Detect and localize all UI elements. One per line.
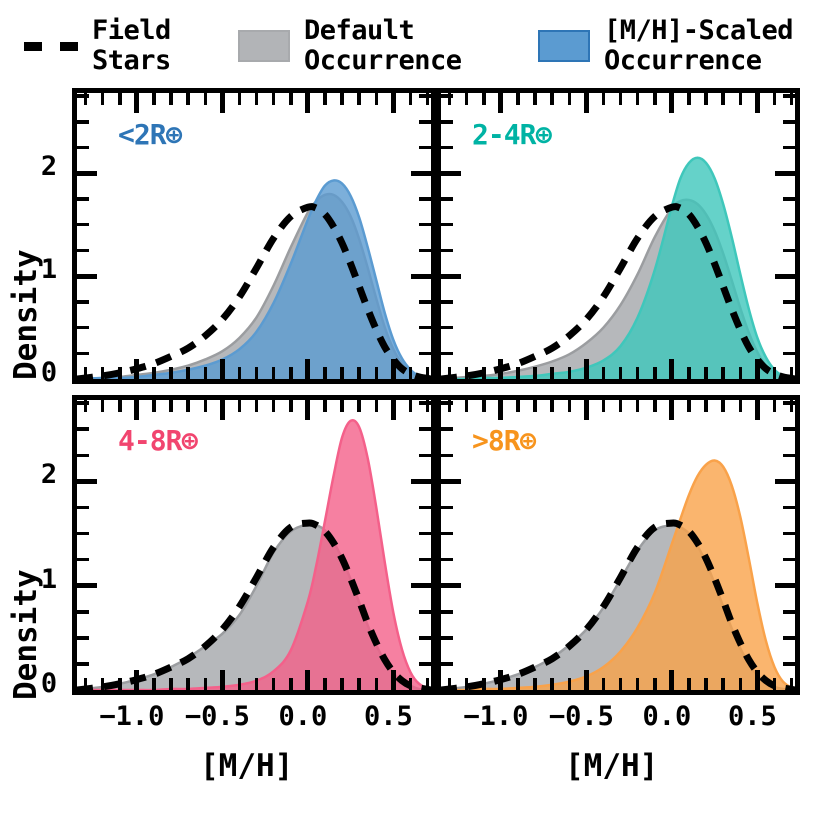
axis-tick [419,454,431,458]
axis-tick [721,400,725,412]
axis-tick [323,93,327,105]
axis-tick [152,400,156,412]
axis-tick [375,678,379,690]
axis-tick [169,400,173,412]
axis-tick [238,93,242,105]
axis-tick [619,367,623,379]
axis-tick [419,146,431,150]
axis-tick [775,274,795,279]
axis-tick [411,479,431,484]
axis-tick [653,678,657,690]
axis-tick [419,610,431,614]
axis-tick [441,506,453,510]
axis-tick [255,678,259,690]
axis-tick [704,400,708,412]
axis-tick [323,367,327,379]
axis-tick [602,367,606,379]
axis-tick [238,367,242,379]
axis-tick [357,678,361,690]
axis-tick [118,93,122,105]
legend-label-scaled-occurrence: [M/H]-Scaled Occurrence [604,16,793,76]
x-axis-label-right: [M/H] [565,748,658,784]
axis-tick [77,636,89,640]
axis-tick [441,636,453,640]
axis-tick [783,120,795,124]
axis-tick [773,93,777,105]
axis-tick [391,93,396,113]
axis-tick [77,120,89,124]
axis-tick [186,400,190,412]
legend-item-scaled-occurrence: [M/H]-Scaled Occurrence [538,16,793,76]
axis-tick [77,662,89,666]
axis-tick [77,610,89,614]
axis-tick [550,678,554,690]
x-axis-label-left: [M/H] [200,748,293,784]
axis-tick [305,359,310,379]
axis-tick [441,146,453,150]
axis-tick [419,120,431,124]
axis-tick [238,400,242,412]
axis-tick [289,678,293,690]
axis-tick [568,93,572,105]
axis-tick [773,400,777,412]
axis-tick [721,678,725,690]
axis-tick [391,400,396,420]
axis-tick [669,93,674,113]
axis-tick [516,93,520,105]
axis-tick [169,367,173,379]
axis-tick [441,223,453,227]
axis-tick [101,678,105,690]
axis-tick [636,678,640,690]
axis-tick [409,678,413,690]
axis-tick [77,326,89,330]
axis-tick [482,400,486,412]
axis-tick [465,678,469,690]
axis-tick [516,678,520,690]
panel-tag-2to4: 2-4R⊕ [472,118,551,151]
swatch-gray-icon [238,30,290,62]
axis-tick [409,367,413,379]
axis-tick [790,367,794,379]
axis-tick [619,400,623,412]
axis-tick [669,670,674,690]
axis-tick [101,400,105,412]
axis-tick [584,670,589,690]
axis-tick [186,367,190,379]
axis-tick [77,583,97,588]
axis-tick [357,367,361,379]
axis-tick [783,454,795,458]
axis-tick [419,401,431,405]
y-tick-label: 0 [34,668,64,699]
axis-tick [77,197,89,201]
axis-tick [152,93,156,105]
axis-tick [739,400,743,412]
x-tick-label: 0.5 [700,701,804,732]
axis-tick [441,94,453,98]
axis-tick [721,93,725,105]
axis-tick [441,427,453,431]
axis-tick [687,93,691,105]
axis-tick [790,678,794,690]
axis-tick [441,558,453,562]
axis-tick [77,427,89,431]
axis-tick [441,249,453,253]
axis-tick [482,367,486,379]
axis-tick [783,352,795,356]
axis-tick [783,197,795,201]
axis-tick [340,678,344,690]
axis-tick [186,93,190,105]
axis-tick [118,367,122,379]
axis-tick [77,558,89,562]
axis-tick [169,93,173,105]
axis-tick [653,367,657,379]
axis-tick [272,678,276,690]
axis-tick [77,532,89,536]
axis-tick [411,274,431,279]
axis-tick [721,367,725,379]
axis-tick [323,400,327,412]
axis-tick [419,558,431,562]
axis-tick [441,532,453,536]
axis-tick [465,93,469,105]
axis-tick [584,359,589,379]
legend-item-default-occurrence: Default Occurrence [238,16,462,76]
axis-tick [77,401,89,405]
axis-tick [305,93,310,113]
axis-tick [255,367,259,379]
axis-tick [783,506,795,510]
axis-tick [448,367,452,379]
axis-tick [441,120,453,124]
axis-tick [441,197,453,201]
legend: Field Stars Default Occurrence [M/H]-Sca… [0,0,830,82]
axis-tick [340,367,344,379]
axis-tick [636,367,640,379]
axis-tick [783,146,795,150]
axis-tick [77,506,89,510]
legend-label-default-occurrence: Default Occurrence [304,16,462,76]
axis-tick [101,367,105,379]
axis-tick [409,400,413,412]
axis-tick [77,94,89,98]
axis-tick [77,300,89,304]
axis-tick [77,454,89,458]
axis-tick [441,662,453,666]
axis-tick [739,367,743,379]
axis-tick [77,479,97,484]
axis-tick [550,367,554,379]
panel-tag-lt2: <2R⊕ [118,118,181,151]
axis-tick [755,359,760,379]
axis-tick [238,678,242,690]
axis-tick [77,274,97,279]
axis-tick [568,400,572,412]
axis-tick [152,678,156,690]
axis-tick [391,359,396,379]
axis-tick [441,401,453,405]
axis-tick [441,274,461,279]
axis-tick [441,352,453,356]
x-tick-label: 0.5 [336,701,440,732]
axis-tick [340,93,344,105]
axis-tick [568,367,572,379]
axis-tick [498,670,503,690]
axis-tick [411,583,431,588]
axis-tick [533,93,537,105]
axis-tick [84,367,88,379]
axis-tick [533,400,537,412]
axis-tick [773,678,777,690]
axis-tick [533,367,537,379]
axis-tick [687,678,691,690]
axis-tick [220,359,225,379]
axis-tick [498,359,503,379]
axis-tick [134,359,139,379]
axis-tick [482,678,486,690]
axis-tick [533,678,537,690]
axis-tick [357,400,361,412]
axis-tick [152,367,156,379]
axis-tick [419,636,431,640]
axis-tick [602,678,606,690]
axis-tick [426,367,430,379]
axis-tick [516,367,520,379]
axis-tick [426,678,430,690]
axis-tick [134,93,139,113]
axis-tick [391,670,396,690]
axis-tick [305,670,310,690]
axis-tick [653,400,657,412]
axis-tick [134,400,139,420]
axis-tick [204,678,208,690]
axis-tick [568,678,572,690]
axis-tick [419,427,431,431]
axis-tick [584,93,589,113]
axis-tick [220,670,225,690]
axis-tick [619,93,623,105]
axis-tick [204,400,208,412]
panel-tag-4to8: 4-8R⊕ [118,424,197,457]
swatch-blue-icon [538,30,590,62]
axis-tick [409,93,413,105]
axis-tick [584,400,589,420]
axis-tick [636,400,640,412]
axis-tick [783,401,795,405]
axis-tick [739,93,743,105]
axis-tick [169,678,173,690]
axis-tick [687,367,691,379]
panel-tag-gt8: >8R⊕ [472,424,535,457]
axis-tick [704,678,708,690]
axis-tick [134,670,139,690]
legend-label-field-stars: Field Stars [92,16,171,76]
axis-tick [602,400,606,412]
axis-tick [704,93,708,105]
axis-tick [77,171,97,176]
axis-tick [220,93,225,113]
axis-tick [323,678,327,690]
axis-tick [357,93,361,105]
axis-tick [448,678,452,690]
axis-tick [783,427,795,431]
axis-tick [669,359,674,379]
y-tick-label: 1 [34,564,64,595]
axis-tick [687,400,691,412]
axis-tick [441,454,453,458]
axis-tick [77,146,89,150]
axis-tick [465,367,469,379]
axis-tick [204,367,208,379]
axis-tick [783,223,795,227]
axis-tick [441,171,461,176]
axis-tick [755,670,760,690]
axis-tick [419,223,431,227]
axis-tick [755,400,760,420]
figure-canvas: Field Stars Default Occurrence [M/H]-Sca… [0,0,830,819]
axis-tick [419,300,431,304]
axis-tick [289,367,293,379]
axis-tick [272,93,276,105]
y-tick-label: 1 [34,254,64,285]
axis-tick [498,93,503,113]
axis-tick [773,367,777,379]
axis-tick [465,400,469,412]
axis-tick [77,249,89,253]
axis-tick [482,93,486,105]
axis-tick [340,400,344,412]
axis-tick [419,94,431,98]
axis-tick [375,367,379,379]
axis-tick [289,400,293,412]
axis-tick [375,400,379,412]
dashed-line-icon [24,42,78,51]
axis-tick [77,223,89,227]
axis-tick [441,479,461,484]
axis-tick [619,678,623,690]
legend-item-field-stars: Field Stars [24,16,171,76]
axis-tick [783,94,795,98]
axis-tick [783,249,795,253]
axis-tick [441,326,453,330]
y-tick-label: 2 [34,459,64,490]
axis-tick [220,400,225,420]
axis-tick [118,400,122,412]
axis-tick [498,400,503,420]
axis-tick [636,93,640,105]
axis-tick [704,367,708,379]
axis-tick [419,352,431,356]
series-area-scaled [77,180,431,379]
axis-tick [550,400,554,412]
axis-tick [77,352,89,356]
axis-tick [783,610,795,614]
axis-tick [419,197,431,201]
axis-tick [186,678,190,690]
axis-tick [669,400,674,420]
axis-tick [783,326,795,330]
axis-tick [441,583,461,588]
axis-tick [411,171,431,176]
axis-tick [118,678,122,690]
axis-tick [775,583,795,588]
axis-tick [441,610,453,614]
axis-tick [419,506,431,510]
axis-tick [272,367,276,379]
axis-tick [419,249,431,253]
y-tick-label: 0 [34,357,64,388]
axis-tick [419,662,431,666]
axis-tick [653,93,657,105]
axis-tick [441,300,453,304]
axis-tick [755,93,760,113]
axis-tick [775,171,795,176]
axis-tick [375,93,379,105]
axis-tick [783,636,795,640]
axis-tick [84,678,88,690]
axis-tick [775,479,795,484]
axis-tick [516,400,520,412]
axis-tick [255,93,259,105]
axis-tick [255,400,259,412]
axis-tick [602,93,606,105]
axis-tick [783,532,795,536]
axis-tick [419,326,431,330]
axis-tick [550,93,554,105]
axis-tick [739,678,743,690]
y-tick-label: 2 [34,151,64,182]
axis-tick [419,532,431,536]
axis-tick [272,400,276,412]
axis-tick [783,300,795,304]
axis-tick [289,93,293,105]
axis-tick [101,93,105,105]
axis-tick [204,93,208,105]
axis-tick [783,558,795,562]
axis-tick [305,400,310,420]
axis-tick [783,662,795,666]
